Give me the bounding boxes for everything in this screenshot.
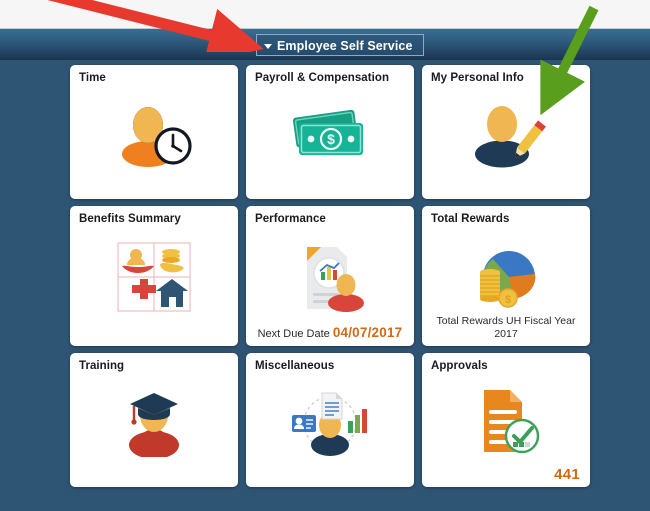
tile-title: Time — [79, 72, 232, 85]
cash-money-icon: $ — [246, 89, 414, 177]
next-due-date-value: 04/07/2017 — [333, 325, 403, 340]
tile-title: Approvals — [431, 360, 584, 373]
tile-footer: Next Due Date 04/07/2017 — [252, 326, 408, 341]
tile-time[interactable]: Time — [70, 65, 238, 199]
tile-title: Training — [79, 360, 232, 373]
tile-title: My Personal Info — [431, 72, 584, 85]
nav-dropdown-label: Employee Self Service — [277, 39, 413, 53]
tile-title: Performance — [255, 213, 408, 226]
svg-text:$: $ — [327, 131, 335, 147]
homepage-body: Time Payroll & Compensation — [0, 60, 650, 511]
tile-grid: Time Payroll & Compensation — [70, 65, 590, 487]
tile-title: Miscellaneous — [255, 360, 408, 373]
graduate-person-icon — [70, 377, 238, 465]
tile-miscellaneous[interactable]: Miscellaneous — [246, 353, 414, 487]
document-approved-icon — [422, 377, 590, 465]
person-with-pencil-icon — [422, 89, 590, 177]
svg-text:$: $ — [505, 294, 511, 306]
tile-title: Payroll & Compensation — [255, 72, 408, 85]
tile-benefits-summary[interactable]: Benefits Summary — [70, 206, 238, 346]
browser-top-strip — [0, 0, 650, 29]
tile-footer: Total Rewards UH Fiscal Year 2017 — [428, 315, 584, 341]
tile-title: Benefits Summary — [79, 213, 232, 226]
tile-total-rewards[interactable]: Total Rewards — [422, 206, 590, 346]
tile-my-personal-info[interactable]: My Personal Info — [422, 65, 590, 199]
approvals-count-badge: 441 — [554, 466, 580, 483]
person-badge-chart-icon — [246, 377, 414, 465]
benefits-four-quadrant-icon — [70, 230, 238, 324]
nav-dropdown-employee-self-service[interactable]: Employee Self Service — [256, 34, 424, 56]
pie-chart-coins-icon: $ — [422, 230, 590, 324]
next-due-date-label: Next Due Date — [258, 328, 330, 340]
chevron-down-icon — [264, 44, 272, 49]
tile-title: Total Rewards — [431, 213, 584, 226]
tile-training[interactable]: Training — [70, 353, 238, 487]
tile-performance[interactable]: Performance Next Due Date — [246, 206, 414, 346]
tile-approvals[interactable]: Approvals — [422, 353, 590, 487]
document-chart-person-icon — [246, 230, 414, 324]
person-with-clock-icon — [70, 89, 238, 177]
tile-payroll-compensation[interactable]: Payroll & Compensation $ — [246, 65, 414, 199]
